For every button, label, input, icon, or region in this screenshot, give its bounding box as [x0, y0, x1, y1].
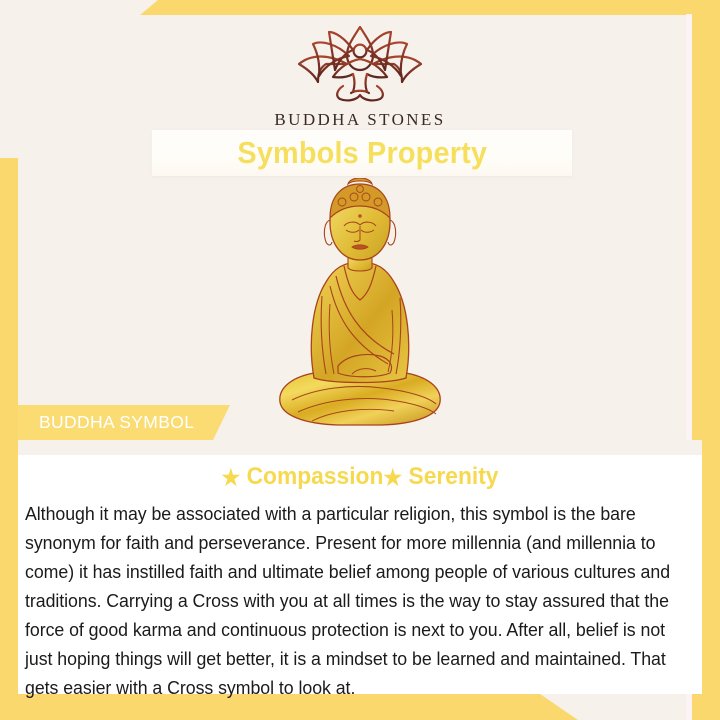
subtitle-keyword-compassion: Compassion [247, 463, 384, 490]
left-accent-band [0, 158, 18, 720]
lotus-meditation-icon [285, 24, 435, 102]
section-subtitle: ★ Compassion★ Serenity [35, 463, 685, 491]
section-body-text: Although it may be associated with a par… [25, 499, 672, 702]
poster-canvas: BUDDHA STONES Symbols Property [0, 0, 720, 720]
page-title: Symbols Property [237, 135, 487, 171]
brand-name: BUDDHA STONES [0, 110, 720, 130]
section-tag-banner: BUDDHA SYMBOL [18, 405, 230, 440]
brand-logo-block: BUDDHA STONES [0, 24, 720, 130]
subtitle-keyword-serenity: Serenity [409, 463, 499, 490]
star-icon-2: ★ [383, 465, 402, 490]
title-banner: Symbols Property [152, 130, 572, 176]
golden-seated-buddha-statue [268, 178, 452, 440]
top-accent-band [140, 0, 700, 15]
section-tag-label: BUDDHA SYMBOL [39, 412, 194, 433]
star-icon-1: ★ [222, 465, 241, 490]
content-card: ★ Compassion★ Serenity Although it may b… [18, 455, 702, 694]
card-top-gap [18, 440, 702, 455]
